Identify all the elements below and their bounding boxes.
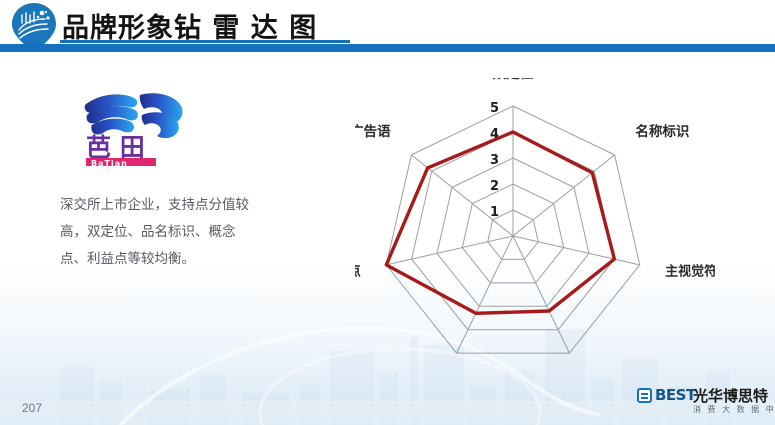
left-panel: 芭 田 BaTian 深交所上市企业，支持点分值较 高，双定位、品名标识、概念 …	[60, 88, 320, 273]
batian-logo: 芭 田 BaTian	[82, 88, 190, 166]
radar-tick-2: 2	[490, 179, 499, 194]
best-cn-name: 光华博思特	[693, 385, 768, 406]
radar-category-2: 主视觉符号	[665, 263, 715, 279]
radar-category-5: 支持点	[355, 262, 361, 279]
radar-category-labels: 双定位名称标识主视觉符号概念点利益点支持点广告语	[355, 78, 715, 368]
best-text: BEST	[655, 386, 696, 404]
radar-tick-3: 3	[490, 153, 499, 168]
radar-tick-4: 4	[490, 127, 499, 142]
header-accent-bar	[0, 44, 775, 52]
radar-grid	[386, 106, 639, 353]
radar-axis-4	[457, 236, 513, 353]
radar-tick-1: 1	[490, 205, 499, 220]
brand-description: 深交所上市企业，支持点分值较 高，双定位、品名标识、概念 点、利益点等较均衡。	[60, 192, 295, 273]
radar-axis-3	[513, 236, 569, 353]
title-underline	[60, 40, 350, 43]
best-wordmark: BEST	[637, 386, 696, 404]
description-line-3: 点、利益点等较均衡。	[60, 246, 295, 273]
radar-tick-labels: 12345	[490, 101, 499, 220]
slide-header: 品牌形象钻 雷 达 图	[0, 0, 775, 54]
description-line-2: 高，双定位、品名标识、概念	[60, 219, 295, 246]
radar-series-polygon	[386, 132, 614, 313]
radar-category-0: 双定位	[493, 78, 534, 82]
best-mark-icon	[637, 388, 652, 403]
radar-chart: 12345 双定位名称标识主视觉符号概念点利益点支持点广告语	[355, 78, 715, 368]
slide-canvas: 品牌形象钻 雷 达 图	[0, 0, 775, 425]
radar-category-1: 名称标识	[635, 123, 689, 140]
radar-tick-5: 5	[490, 101, 499, 116]
radar-category-6: 广告语	[355, 123, 391, 140]
svg-text:芭 田: 芭 田	[86, 133, 145, 162]
best-footer-logo: BEST 光华博思特 消 费 大 数 据 中 心	[637, 385, 765, 419]
svg-text:BaTian: BaTian	[91, 159, 128, 166]
best-subtitle: 消 费 大 数 据 中 心	[693, 404, 775, 415]
description-line-1: 深交所上市企业，支持点分值较	[60, 192, 295, 219]
page-number: 207	[22, 401, 42, 415]
